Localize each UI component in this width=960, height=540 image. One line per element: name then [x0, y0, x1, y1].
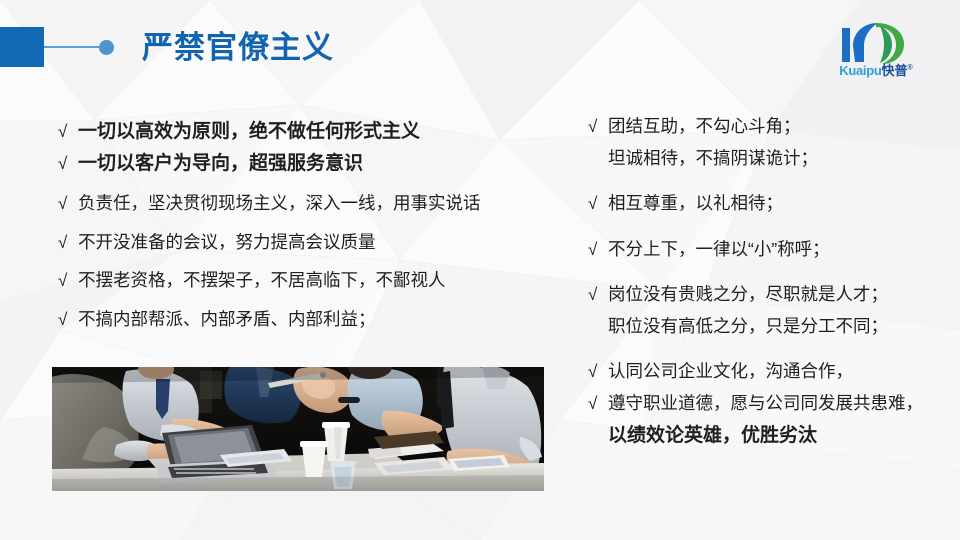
left-bullet-column: √一切以高效为原则，绝不做任何形式主义 √一切以客户为导向，超强服务意识 √负责…	[58, 122, 563, 349]
slide-root: 严禁官僚主义 Kuaipu快普® √一切以高效为原则，绝不做任何形式主义 √一切…	[0, 0, 960, 540]
list-item-text: 以绩效论英雄，优胜劣汰	[608, 425, 817, 446]
list-item-emphasis: 以绩效论英雄，优胜劣汰	[588, 426, 948, 445]
check-icon: √	[58, 195, 78, 212]
list-item: √坦诚相待，不搞阴谋诡计；	[588, 150, 948, 168]
list-item: √不开没准备的会议，努力提高会议质量	[58, 234, 563, 252]
header-accent-square	[0, 27, 44, 67]
list-item-text: 职位没有高低之分，只是分工不同；	[608, 316, 888, 336]
list-item: √不摆老资格，不摆架子，不居高临下，不鄙视人	[58, 272, 563, 290]
check-icon: √	[58, 311, 78, 328]
list-item: √认同公司企业文化，沟通合作，	[588, 363, 948, 381]
check-icon: √	[58, 272, 78, 289]
list-item: √负责任，坚决贯彻现场主义，深入一线，用事实说话	[58, 195, 563, 213]
list-item: √一切以高效为原则，绝不做任何形式主义	[58, 122, 563, 141]
list-item-text: 岗位没有贵贱之分，尽职就是人才；	[608, 284, 888, 304]
right-bullet-column: √团结互助，不勾心斗角； √坦诚相待，不搞阴谋诡计； √相互尊重，以礼相待； √…	[588, 118, 948, 445]
list-item: √团结互助，不勾心斗角；	[588, 118, 948, 136]
list-item-text: 认同公司企业文化，沟通合作，	[608, 361, 853, 381]
list-item: √职位没有高低之分，只是分工不同；	[588, 318, 948, 336]
list-item-text: 不搞内部帮派、内部矛盾、内部利益；	[78, 309, 376, 329]
logo-registered-mark: ®	[908, 65, 913, 72]
meeting-photo	[52, 367, 544, 491]
meeting-photo-illustration	[52, 367, 544, 491]
list-item-text: 不分上下，一律以“小”称呼；	[608, 239, 830, 259]
slide-header: 严禁官僚主义	[0, 0, 960, 105]
list-item: √一切以客户为导向，超强服务意识	[58, 154, 563, 173]
header-connector-line	[44, 46, 101, 48]
page-title: 严禁官僚主义	[142, 22, 334, 67]
check-icon: √	[588, 195, 608, 212]
list-item-text: 相互尊重，以礼相待；	[608, 193, 783, 213]
check-icon: √	[588, 241, 608, 258]
list-item: √遵守职业道德，愿与公司同发展共患难，	[588, 395, 948, 413]
check-icon: √	[588, 395, 608, 412]
check-icon: √	[588, 363, 608, 380]
list-item: √不分上下，一律以“小”称呼；	[588, 241, 948, 259]
list-item-text: 一切以高效为原则，绝不做任何形式主义	[78, 121, 420, 142]
check-icon: √	[588, 118, 608, 135]
logo-latin-text: Kuaipu	[839, 63, 881, 78]
list-item-text: 一切以客户为导向，超强服务意识	[78, 153, 363, 174]
list-item-text: 遵守职业道德，愿与公司同发展共患难，	[608, 393, 923, 413]
check-icon: √	[58, 155, 78, 172]
logo-wordmark: Kuaipu快普®	[820, 64, 932, 77]
list-item: √岗位没有贵贱之分，尽职就是人才；	[588, 286, 948, 304]
list-item-text: 负责任，坚决贯彻现场主义，深入一线，用事实说话	[78, 193, 481, 213]
check-icon: √	[58, 123, 78, 140]
list-item-text: 不摆老资格，不摆架子，不居高临下，不鄙视人	[78, 270, 446, 290]
list-item: √相互尊重，以礼相待；	[588, 195, 948, 213]
logo-han-text: 快普	[882, 63, 908, 78]
company-logo: Kuaipu快普®	[820, 20, 932, 84]
check-icon: √	[588, 286, 608, 303]
list-item-text: 坦诚相待，不搞阴谋诡计；	[608, 148, 818, 168]
check-icon: √	[58, 234, 78, 251]
list-item-text: 团结互助，不勾心斗角；	[608, 116, 801, 136]
list-item-text: 不开没准备的会议，努力提高会议质量	[78, 232, 376, 252]
header-accent-dot	[99, 40, 114, 55]
kuaipu-logo-mark	[840, 20, 912, 66]
list-item: √不搞内部帮派、内部矛盾、内部利益；	[58, 311, 563, 329]
